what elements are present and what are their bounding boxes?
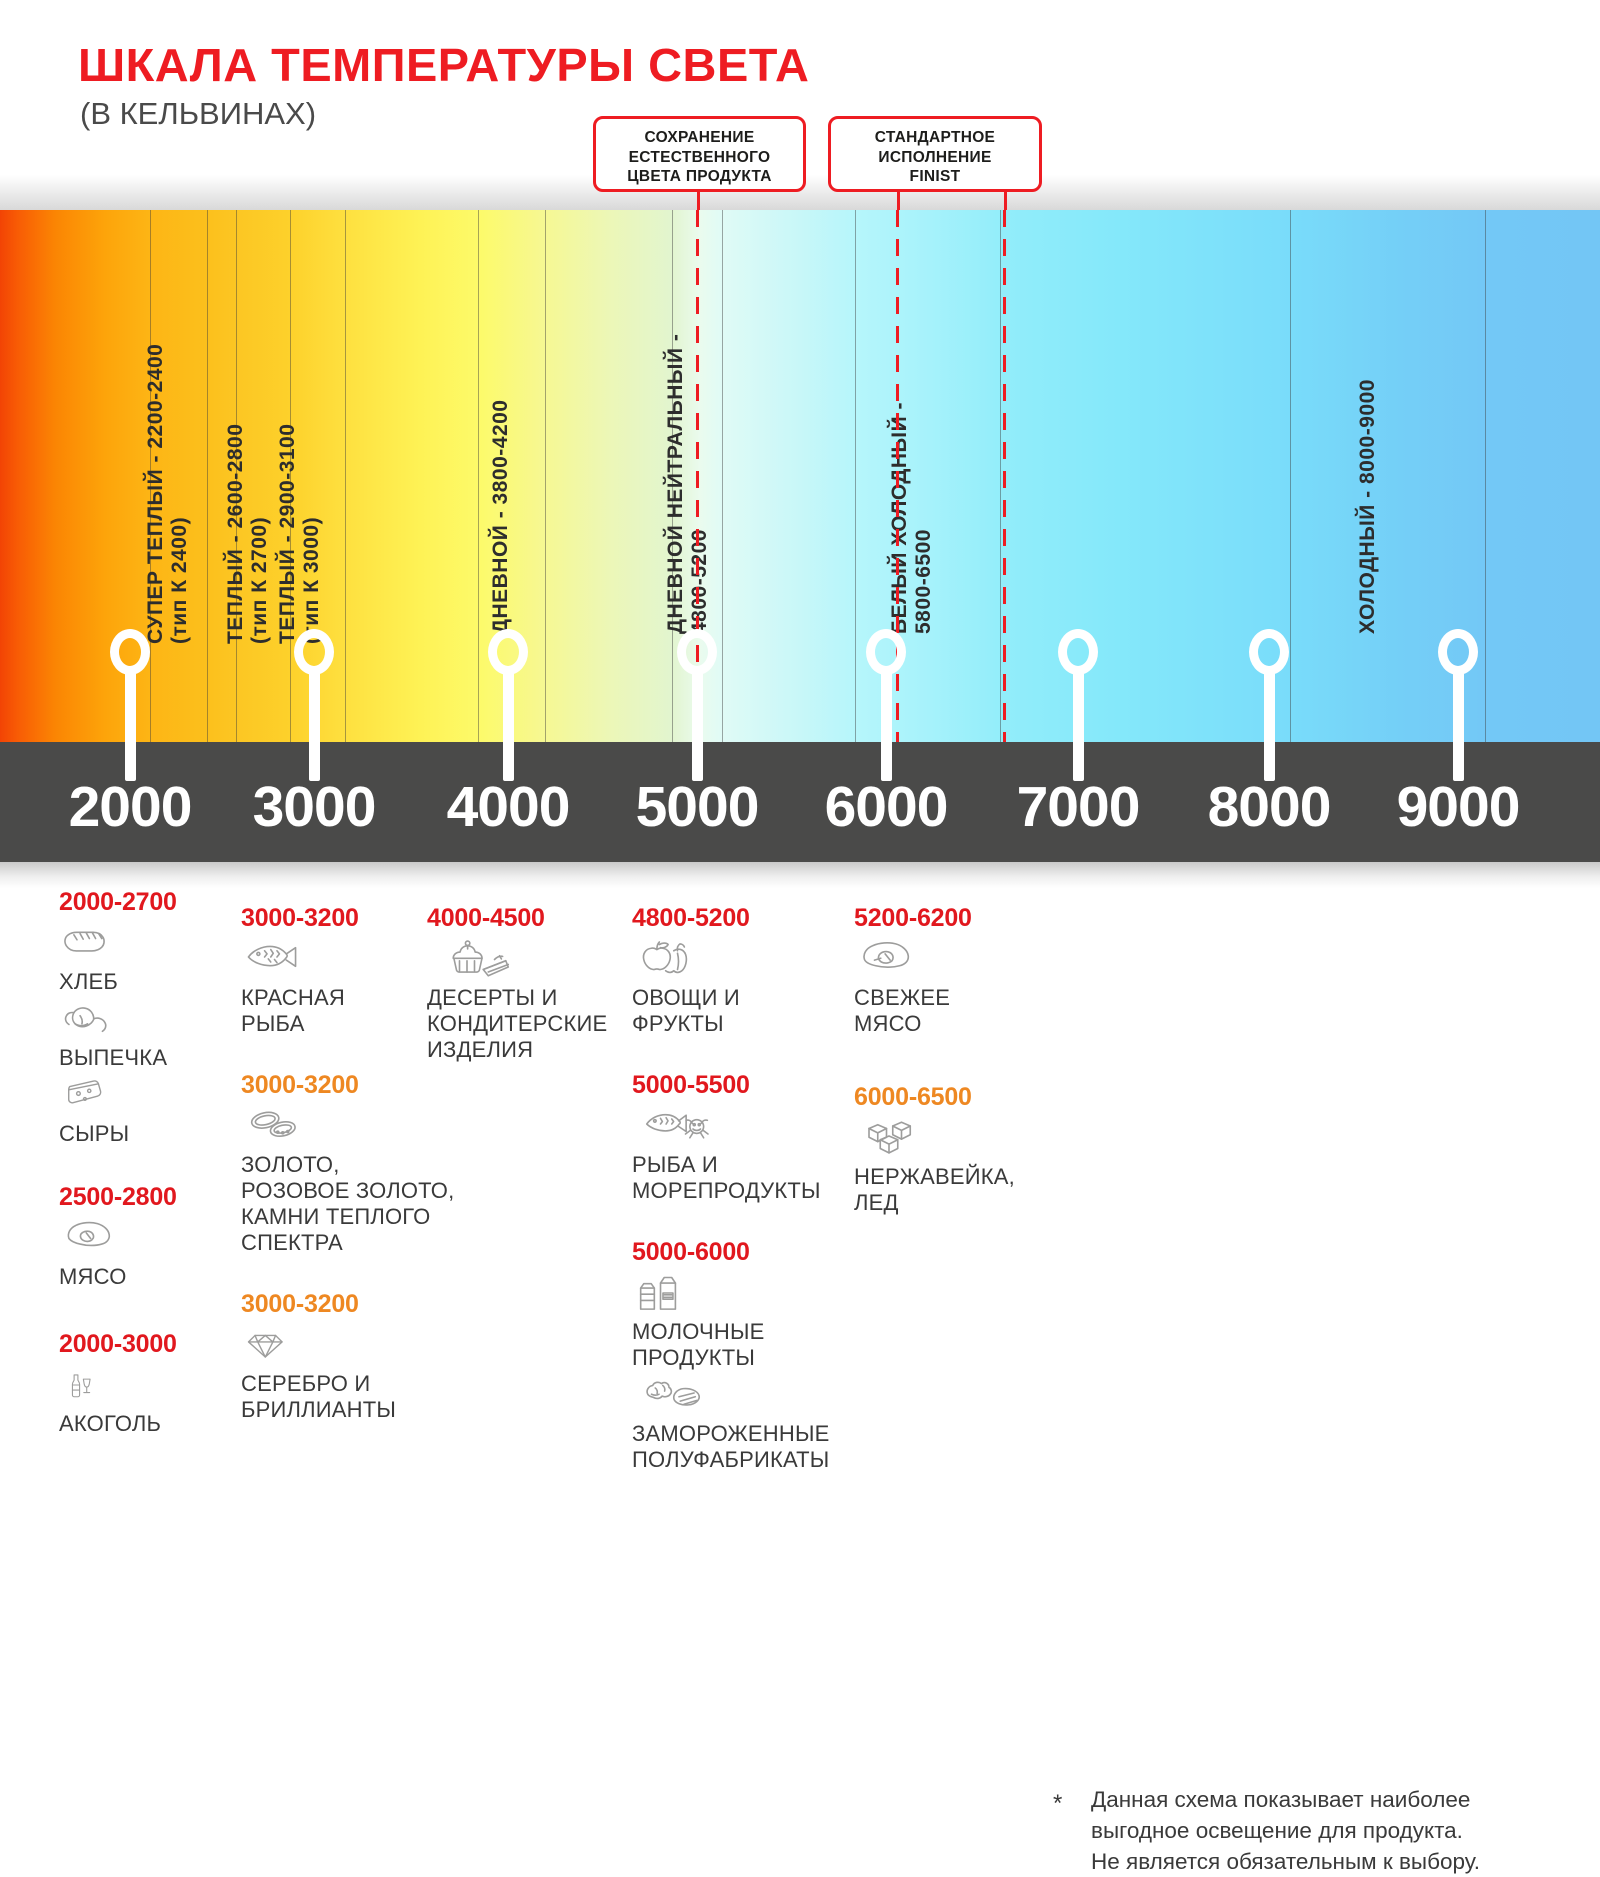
tick-label-3000: 3000 <box>253 774 376 840</box>
legend-item-label: РЫБА ИМОРЕПРОДУКТЫ <box>632 1152 847 1204</box>
legend-group: 4800-5200ОВОЩИ ИФРУКТЫ <box>632 904 847 1037</box>
legend-range-label: 2500-2800 <box>59 1183 234 1212</box>
footnote-text: Данная схема показывает наиболее выгодно… <box>1091 1784 1593 1877</box>
legend-group: 2000-2700ХЛЕБВЫПЕЧКАСЫРЫ <box>59 888 234 1147</box>
rings-icon <box>241 1104 481 1150</box>
legend-range-label: 4000-4500 <box>427 904 622 933</box>
footnote: * Данная схема показывает наиболее выгод… <box>1053 1784 1593 1877</box>
legend-range-label: 3000-3200 <box>241 1290 481 1319</box>
legend-item-label: ЗОЛОТО,РОЗОВОЕ ЗОЛОТО,КАМНИ ТЕПЛОГОСПЕКТ… <box>241 1152 481 1256</box>
footnote-line2: выгодное освещение для продукта. <box>1091 1815 1593 1846</box>
legend-item: ВЫПЕЧКА <box>59 997 234 1071</box>
legend-range-label: 4800-5200 <box>632 904 847 933</box>
segment-divider <box>722 210 723 742</box>
legend-item-label: НЕРЖАВЕЙКА,ЛЕД <box>854 1164 1044 1216</box>
legend-item: СВЕЖЕЕМЯСО <box>854 937 1044 1037</box>
segment-divider <box>855 210 856 742</box>
legend-item: ДЕСЕРТЫ ИКОНДИТЕРСКИЕИЗДЕЛИЯ <box>427 937 622 1063</box>
dashed-line-finist-end <box>1003 210 1006 742</box>
callout-standard-line1: СТАНДАРТНОЕ <box>831 128 1039 148</box>
legend-item-label: ХЛЕБ <box>59 969 234 995</box>
callout-stem-natural <box>697 192 700 210</box>
callout-stem-standard-right <box>1004 192 1007 210</box>
legend-range-label: 2000-3000 <box>59 1330 234 1359</box>
legend-range-label: 5000-5500 <box>632 1071 847 1100</box>
ice-cubes-icon <box>854 1116 1044 1162</box>
legend-group: 6000-6500НЕРЖАВЕЙКА,ЛЕД <box>854 1083 1044 1216</box>
legend-item-label: МЯСО <box>59 1264 234 1290</box>
segment-divider <box>545 210 546 742</box>
legend-item: МОЛОЧНЫЕ ПРОДУКТЫ <box>632 1271 847 1371</box>
product-legend: 2000-2700ХЛЕБВЫПЕЧКАСЫРЫ2500-2800МЯСО200… <box>0 888 1600 1600</box>
legend-item-label: ДЕСЕРТЫ ИКОНДИТЕРСКИЕИЗДЕЛИЯ <box>427 985 622 1063</box>
legend-item-label: АКОГОЛЬ <box>59 1411 234 1437</box>
band-label-super-warm: СУПЕР ТЕПЛЫЙ - 2200-2400 <box>144 344 168 644</box>
legend-item: МЯСО <box>59 1216 234 1290</box>
legend-item: ХЛЕБ <box>59 921 234 995</box>
legend-item: ЗОЛОТО,РОЗОВОЕ ЗОЛОТО,КАМНИ ТЕПЛОГОСПЕКТ… <box>241 1104 481 1256</box>
tick-label-4000: 4000 <box>447 774 570 840</box>
legend-range-label: 5200-6200 <box>854 904 1044 933</box>
fresh-steak-icon <box>854 937 1044 983</box>
kelvin-scale-bar: 2000 3000 4000 5000 6000 7000 8000 9000 <box>0 742 1600 862</box>
legend-item-label: МОЛОЧНЫЕ ПРОДУКТЫ <box>632 1319 847 1371</box>
legend-item-label: ЗАМОРОЖЕННЫЕПОЛУФАБРИКАТЫ <box>632 1421 847 1473</box>
tick-label-5000: 5000 <box>636 774 759 840</box>
legend-item: АКОГОЛЬ <box>59 1363 234 1437</box>
diamond-icon <box>241 1323 481 1369</box>
callout-stem-standard-left <box>897 192 900 210</box>
cheese-icon <box>59 1073 234 1119</box>
segment-divider <box>478 210 479 742</box>
segment-divider <box>1290 210 1291 742</box>
callout-standard-line2: ИСПОЛНЕНИЕ <box>831 148 1039 168</box>
legend-group: 2000-3000АКОГОЛЬ <box>59 1330 234 1437</box>
apple-pepper-icon <box>632 937 847 983</box>
legend-item: ОВОЩИ ИФРУКТЫ <box>632 937 847 1037</box>
legend-group: 5200-6200СВЕЖЕЕМЯСО <box>854 904 1044 1037</box>
steak-icon <box>59 1216 234 1262</box>
color-temperature-spectrum: СУПЕР ТЕПЛЫЙ - 2200-2400 (тип К 2400) ТЕ… <box>0 210 1600 742</box>
legend-column-4: 4800-5200ОВОЩИ ИФРУКТЫ5000-5500РЫБА ИМОР… <box>632 888 847 1475</box>
marker-stem <box>503 669 514 781</box>
band-label-warm-2700-sub: (тип К 2700) <box>248 517 272 644</box>
marker-stem <box>1264 669 1275 781</box>
callout-natural-line3: ЦВЕТА ПРОДУКТА <box>596 167 803 187</box>
band-label-warm-3000: ТЕПЛЫЙ - 2900-3100 <box>276 424 300 644</box>
band-label-warm-3000-sub: (тип К 3000) <box>300 517 324 644</box>
legend-range-label: 6000-6500 <box>854 1083 1044 1112</box>
legend-range-label: 5000-6000 <box>632 1238 847 1267</box>
segment-divider <box>207 210 208 742</box>
band-label-daylight: ДНЕВНОЙ - 3800-4200 <box>489 400 513 634</box>
legend-group: 3000-3200СЕРЕБРО ИБРИЛЛИАНТЫ <box>241 1290 481 1423</box>
tick-label-7000: 7000 <box>1017 774 1140 840</box>
band-label-white-cold-sub: 5800-6500 <box>912 529 936 634</box>
legend-item: ЗАМОРОЖЕННЫЕПОЛУФАБРИКАТЫ <box>632 1373 847 1473</box>
legend-column-3: 4000-4500ДЕСЕРТЫ ИКОНДИТЕРСКИЕИЗДЕЛИЯ <box>427 888 622 1065</box>
footnote-line1: Данная схема показывает наиболее <box>1091 1784 1593 1815</box>
legend-item: НЕРЖАВЕЙКА,ЛЕД <box>854 1116 1044 1216</box>
legend-range-label: 2000-2700 <box>59 888 234 917</box>
legend-item-label: СЫРЫ <box>59 1121 234 1147</box>
legend-group: 4000-4500ДЕСЕРТЫ ИКОНДИТЕРСКИЕИЗДЕЛИЯ <box>427 904 622 1063</box>
legend-range-label: 3000-3200 <box>241 1071 481 1100</box>
tick-label-9000: 9000 <box>1397 774 1520 840</box>
legend-item-label: ВЫПЕЧКА <box>59 1045 234 1071</box>
tick-label-8000: 8000 <box>1208 774 1331 840</box>
legend-column-5: 5200-6200СВЕЖЕЕМЯСО6000-6500НЕРЖАВЕЙКА,Л… <box>854 888 1044 1218</box>
band-label-warm-2700: ТЕПЛЫЙ - 2600-2800 <box>224 424 248 644</box>
segment-divider <box>1485 210 1486 742</box>
band-label-daylight-neutral-sub: 4800-5200 <box>688 529 712 634</box>
segment-divider <box>1000 210 1001 742</box>
tick-label-2000: 2000 <box>69 774 192 840</box>
bread-icon <box>59 921 234 967</box>
marker-stem <box>1073 669 1084 781</box>
legend-item-label: СВЕЖЕЕМЯСО <box>854 985 1044 1037</box>
cake-dessert-icon <box>427 937 622 983</box>
marker-stem <box>692 669 703 781</box>
croissant-icon <box>59 997 234 1043</box>
marker-stem <box>1453 669 1464 781</box>
legend-group: 5000-5500РЫБА ИМОРЕПРОДУКТЫ <box>632 1071 847 1204</box>
callout-natural-line2: ЕСТЕСТВЕННОГО <box>596 148 803 168</box>
legend-item: СЫРЫ <box>59 1073 234 1147</box>
scale-bar-shadow <box>0 862 1600 888</box>
callout-natural-color: СОХРАНЕНИЕ ЕСТЕСТВЕННОГО ЦВЕТА ПРОДУКТА <box>593 116 806 192</box>
legend-column-1: 2000-2700ХЛЕБВЫПЕЧКАСЫРЫ2500-2800МЯСО200… <box>59 888 234 1439</box>
page-subtitle: (В КЕЛЬВИНАХ) <box>80 96 316 132</box>
callout-natural-line1: СОХРАНЕНИЕ <box>596 128 803 148</box>
legend-group: 2500-2800МЯСО <box>59 1183 234 1290</box>
frozen-food-icon <box>632 1373 847 1419</box>
bottle-glass-icon <box>59 1363 234 1409</box>
fish-crab-icon <box>632 1104 847 1150</box>
legend-item: РЫБА ИМОРЕПРОДУКТЫ <box>632 1104 847 1204</box>
footnote-star: * <box>1053 1790 1062 1818</box>
band-label-super-warm-sub: (тип К 2400) <box>168 517 192 644</box>
legend-item-label: СЕРЕБРО ИБРИЛЛИАНТЫ <box>241 1371 481 1423</box>
callout-standard-line3: FINIST <box>831 167 1039 187</box>
band-label-white-cold: БЕЛЫЙ ХОЛОДНЫЙ - <box>888 402 912 634</box>
milk-carton-icon <box>632 1271 847 1317</box>
segment-divider <box>345 210 346 742</box>
callout-standard-finist: СТАНДАРТНОЕ ИСПОЛНЕНИЕ FINIST <box>828 116 1042 192</box>
band-label-daylight-neutral: ДНЕВНОЙ НЕЙТРАЛЬНЫЙ - <box>664 334 688 634</box>
band-label-cold: ХОЛОДНЫЙ - 8000-9000 <box>1356 379 1380 634</box>
marker-stem <box>309 669 320 781</box>
footnote-line3: Не является обязательным к выбору. <box>1091 1846 1593 1877</box>
legend-group: 3000-3200ЗОЛОТО,РОЗОВОЕ ЗОЛОТО,КАМНИ ТЕП… <box>241 1071 481 1256</box>
marker-stem <box>125 669 136 781</box>
legend-item-label: ОВОЩИ ИФРУКТЫ <box>632 985 847 1037</box>
legend-group: 5000-6000МОЛОЧНЫЕ ПРОДУКТЫЗАМОРОЖЕННЫЕПО… <box>632 1238 847 1473</box>
legend-item: СЕРЕБРО ИБРИЛЛИАНТЫ <box>241 1323 481 1423</box>
marker-stem <box>881 669 892 781</box>
tick-label-6000: 6000 <box>825 774 948 840</box>
page-title: ШКАЛА ТЕМПЕРАТУРЫ СВЕТА <box>78 38 809 92</box>
